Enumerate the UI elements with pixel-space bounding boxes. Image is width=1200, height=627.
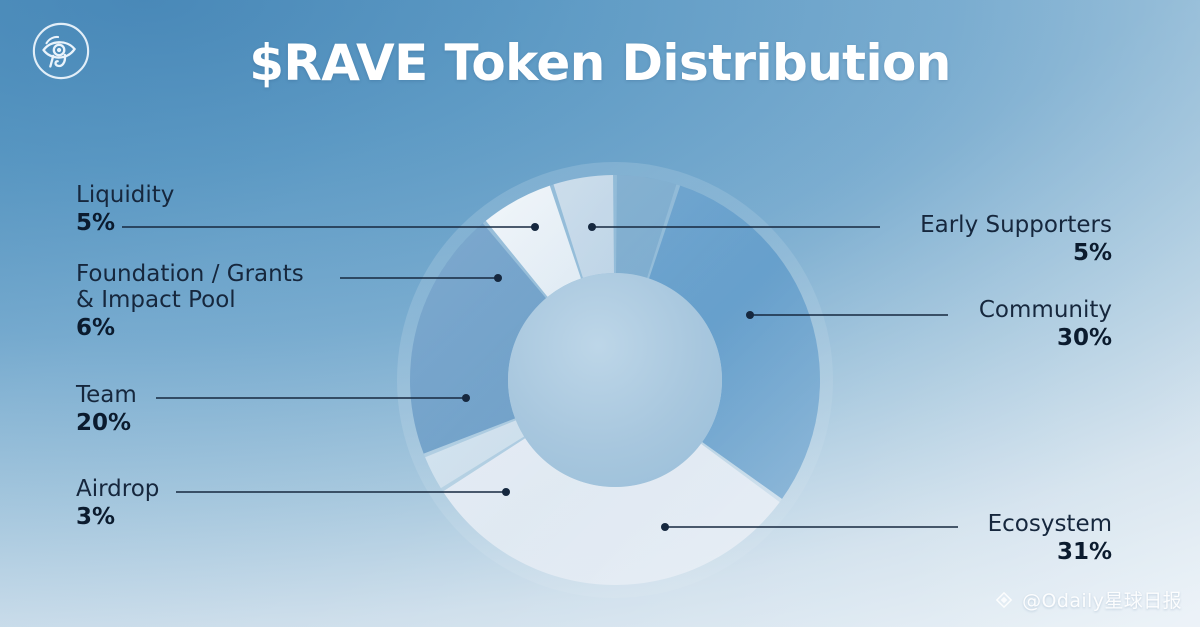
callout-label: Early Supporters	[920, 213, 1112, 239]
callout-community: Community30%	[979, 298, 1112, 352]
callout-team: Team20%	[76, 383, 137, 437]
callout-label: Airdrop	[76, 477, 159, 503]
callout-airdrop: Airdrop3%	[76, 477, 159, 531]
callout-percentage: 31%	[988, 540, 1112, 566]
watermark-text: @Odaily星球日报	[1022, 586, 1182, 613]
callout-label: Ecosystem	[988, 512, 1112, 538]
callout-label: Community	[979, 298, 1112, 324]
callout-label: Team	[76, 383, 137, 409]
page-title: $RAVE Token Distribution	[0, 34, 1200, 92]
callout-percentage: 30%	[979, 326, 1112, 352]
callout-percentage: 5%	[76, 211, 174, 237]
donut-chart	[395, 160, 835, 600]
donut-chart-svg	[395, 160, 835, 600]
callout-ecosystem: Ecosystem31%	[988, 512, 1112, 566]
odaily-diamond-icon	[993, 589, 1015, 611]
callout-percentage: 5%	[920, 241, 1112, 267]
callout-label: Foundation / Grants & Impact Pool	[76, 262, 304, 314]
callout-foundation-grants-impact-pool: Foundation / Grants & Impact Pool6%	[76, 262, 304, 341]
callout-early-supporters: Early Supporters5%	[920, 213, 1112, 267]
callout-label: Liquidity	[76, 183, 174, 209]
watermark: @Odaily星球日报	[993, 586, 1182, 613]
callout-percentage: 3%	[76, 505, 159, 531]
callout-liquidity: Liquidity5%	[76, 183, 174, 237]
infographic-canvas: $RAVE Token Distribution	[0, 0, 1200, 627]
callout-percentage: 20%	[76, 411, 137, 437]
callout-percentage: 6%	[76, 316, 304, 342]
